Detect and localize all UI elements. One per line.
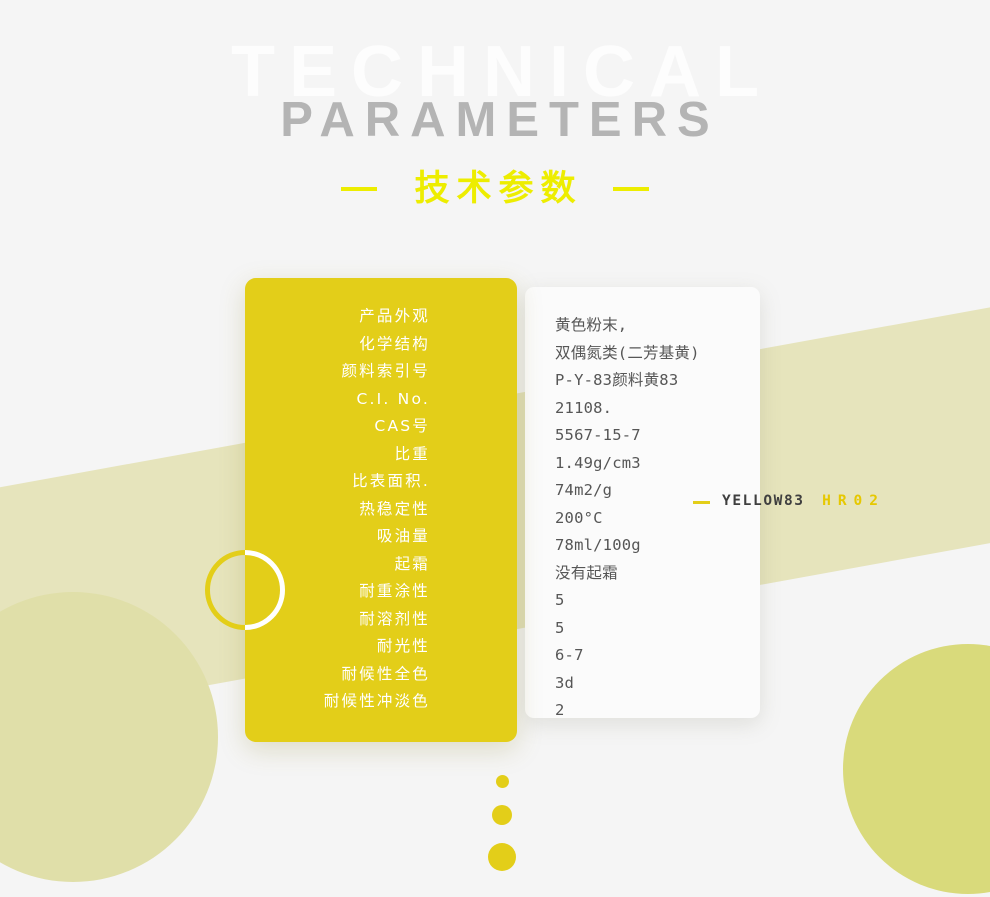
spec-value: 2 (555, 697, 752, 725)
spec-label: 颜料索引号 (324, 358, 430, 386)
spec-value: 1.49g/cm3 (555, 450, 752, 478)
spec-label: 化学结构 (324, 331, 430, 359)
product-tag: YELLOW83 HR02 (693, 492, 885, 511)
page-header: TECHNICAL PARAMETERS 技术参数 (0, 0, 990, 240)
decorative-dot-medium (492, 805, 512, 825)
spec-value: 78ml/100g (555, 532, 752, 560)
spec-label: CAS号 (324, 413, 430, 441)
spec-label: 耐候性冲淡色 (324, 688, 430, 716)
dash-left-icon (341, 187, 377, 191)
spec-value: 5 (555, 587, 752, 615)
decorative-circle-left (0, 592, 218, 882)
tag-dash-icon (693, 501, 710, 504)
spec-label: 耐溶剂性 (324, 606, 430, 634)
page-subtitle-chinese: 技术参数 (407, 170, 582, 209)
spec-label: 耐光性 (324, 633, 430, 661)
spec-value: 3d (555, 670, 752, 698)
spec-label: 耐候性全色 (324, 661, 430, 689)
spec-value: P-Y-83颜料黄83 (555, 367, 752, 395)
decorative-ring-white-half (245, 550, 285, 630)
decorative-dots-group (482, 775, 522, 871)
spec-value: 没有起霜 (555, 560, 752, 588)
spec-label: 起霜 (324, 551, 430, 579)
spec-labels-card: 产品外观化学结构颜料索引号C.I. No.CAS号比重比表面积.热稳定性吸油量起… (245, 278, 517, 742)
spec-value: 5 (555, 615, 752, 643)
product-code: HR02 (809, 493, 885, 509)
spec-value: 双偶氮类(二芳基黄) (555, 340, 752, 368)
spec-value: 21108. (555, 395, 752, 423)
spec-value: 5567-15-7 (555, 422, 752, 450)
technical-parameters-page: TECHNICAL PARAMETERS 技术参数 黄色粉末,双偶氮类(二芳基黄… (0, 0, 990, 897)
spec-value: 黄色粉末, (555, 312, 752, 340)
spec-label: 耐重涂性 (324, 578, 430, 606)
spec-label: 产品外观 (324, 303, 430, 331)
spec-labels-column: 产品外观化学结构颜料索引号C.I. No.CAS号比重比表面积.热稳定性吸油量起… (324, 303, 430, 716)
decorative-dot-large (488, 843, 516, 871)
spec-label: C.I. No. (324, 386, 430, 414)
page-title-parameters: PARAMETERS (0, 96, 990, 145)
product-name: YELLOW83 (722, 493, 805, 509)
decorative-dot-small (496, 775, 509, 788)
decorative-ring-overlay (245, 545, 293, 635)
spec-label: 吸油量 (324, 523, 430, 551)
decorative-circle-right (843, 644, 990, 894)
spec-label: 比重 (324, 441, 430, 469)
spec-label: 比表面积. (324, 468, 430, 496)
spec-value: 6-7 (555, 642, 752, 670)
product-tag-text: YELLOW83 HR02 (722, 492, 885, 511)
subtitle-row: 技术参数 (0, 170, 990, 209)
spec-values-column: 黄色粉末,双偶氮类(二芳基黄)P-Y-83颜料黄8321108.5567-15-… (555, 312, 752, 725)
spec-label: 热稳定性 (324, 496, 430, 524)
dash-right-icon (613, 187, 649, 191)
